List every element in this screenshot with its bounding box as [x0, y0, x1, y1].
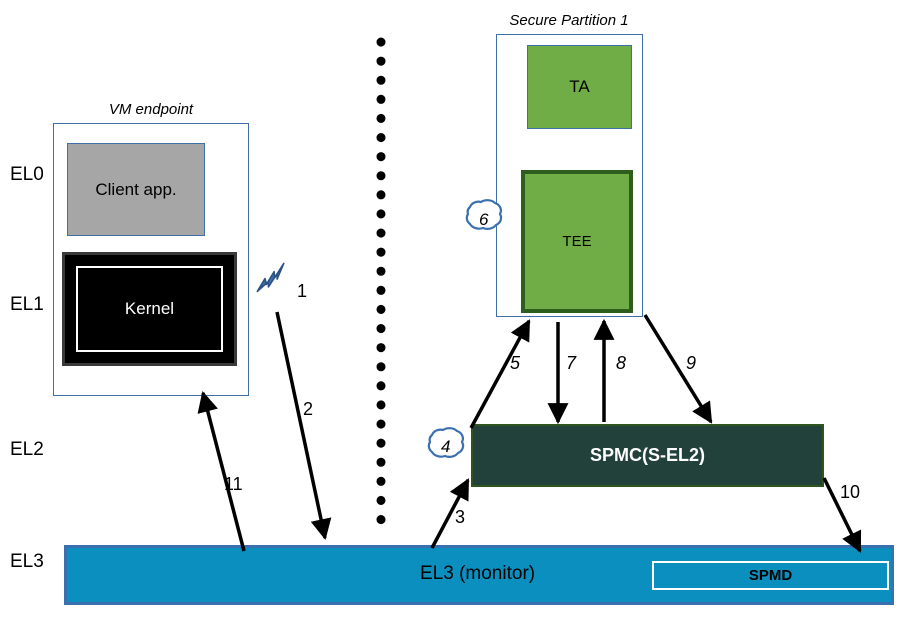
step-label-9: 9: [686, 354, 696, 372]
step-label-7: 7: [566, 354, 576, 372]
step-label-6: 6: [479, 211, 488, 228]
step-label-11: 11: [224, 475, 243, 493]
tee-block[interactable]: TEE: [521, 170, 633, 313]
spmc-block[interactable]: SPMC(S-EL2): [471, 424, 824, 487]
step-label-2: 2: [303, 400, 313, 418]
arrow-11: [203, 393, 244, 551]
diagram-canvas: EL0 EL1 EL2 EL3 VM endpoint Client app. …: [0, 0, 899, 625]
spmc-label: SPMC(S-EL2): [590, 445, 705, 466]
kernel-inner-frame: Kernel: [76, 266, 223, 352]
client-app-block[interactable]: Client app.: [67, 143, 205, 236]
arrow-5: [471, 321, 529, 428]
step-label-8: 8: [616, 354, 626, 372]
el3-monitor-label: EL3 (monitor): [420, 563, 535, 585]
ta-label: TA: [569, 77, 589, 97]
step-label-5: 5: [510, 354, 520, 372]
step-label-3: 3: [455, 508, 465, 526]
secure-partition-caption: Secure Partition 1: [495, 12, 643, 29]
vm-endpoint-caption: VM endpoint: [53, 101, 249, 118]
kernel-block[interactable]: Kernel: [62, 252, 237, 366]
step-label-10: 10: [840, 483, 860, 501]
exception-level-label-el3: EL3: [10, 552, 44, 571]
step-label-1: 1: [297, 282, 307, 300]
arrow-9: [645, 315, 711, 422]
spmd-label: SPMD: [749, 567, 792, 584]
ta-block[interactable]: TA: [527, 45, 632, 129]
spmd-block[interactable]: SPMD: [652, 561, 889, 590]
lightning-bolt-icon: [251, 263, 289, 291]
kernel-label: Kernel: [125, 299, 174, 319]
arrow-2: [277, 312, 325, 538]
step-label-4: 4: [441, 438, 450, 455]
tee-label: TEE: [562, 233, 591, 250]
exception-level-label-el0: EL0: [10, 165, 44, 184]
client-app-label: Client app.: [95, 180, 176, 200]
exception-level-label-el2: EL2: [10, 440, 44, 459]
exception-level-label-el1: EL1: [10, 295, 44, 314]
